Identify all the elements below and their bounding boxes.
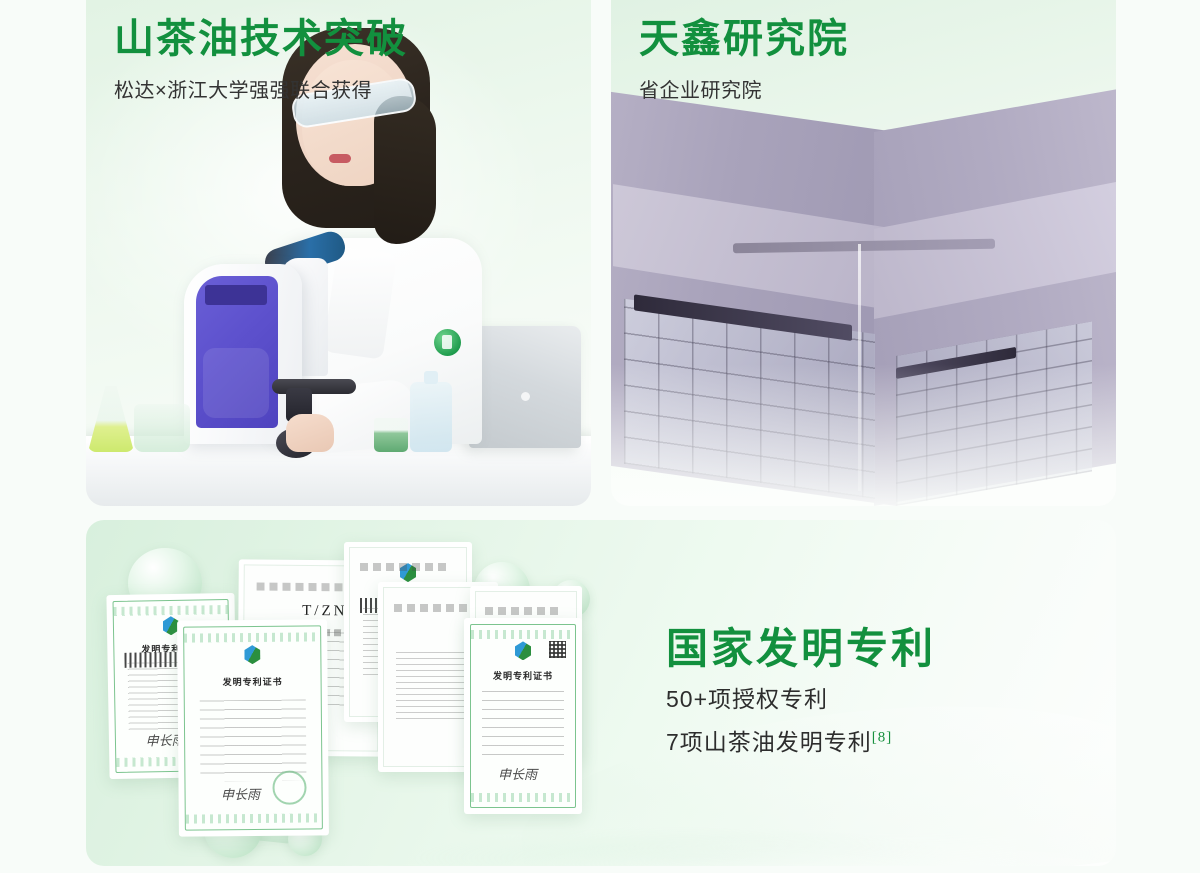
certificate-ornament bbox=[114, 605, 228, 616]
microscope-stage bbox=[272, 379, 356, 394]
certificate-title: 发明专利证书 bbox=[185, 675, 321, 689]
photo-bottom-fade bbox=[611, 364, 1116, 506]
panel-2-subtitle: 省企业研究院 bbox=[639, 74, 849, 103]
patent-text-block: 国家发明专利 50+项授权专利 7项山茶油发明专利[8] bbox=[666, 624, 936, 759]
hair-side bbox=[374, 96, 436, 244]
certificate-signature: 申长雨 bbox=[221, 784, 260, 803]
certificate-header-line bbox=[485, 607, 563, 615]
panel-1-subtitle: 松达×浙江大学强强联合获得 bbox=[114, 74, 408, 103]
panel-1-header: 山茶油技术突破 松达×浙江大学强强联合获得 bbox=[114, 14, 408, 103]
certificate-border: 发明专利证书 申长雨 bbox=[183, 625, 323, 830]
certificate-body-text bbox=[482, 691, 563, 764]
certificate-header-line bbox=[394, 604, 478, 612]
patent-heading: 国家发明专利 bbox=[666, 624, 936, 674]
certificate-thumbnail-featured: 发明专利证书 申长雨 bbox=[464, 618, 582, 814]
certificate-border: 发明专利证书 申长雨 bbox=[470, 624, 576, 808]
panel-research-institute: 天鑫研究院 省企业研究院 bbox=[611, 0, 1116, 506]
cnipa-logo-icon bbox=[244, 645, 260, 664]
certificate-seal bbox=[272, 770, 306, 804]
laptop-icon bbox=[469, 326, 581, 448]
citation-marker: [8] bbox=[872, 729, 893, 745]
microscope-panel bbox=[196, 276, 278, 428]
hand bbox=[286, 414, 334, 452]
panel-tea-oil-breakthrough: 山茶油技术突破 松达×浙江大学强强联合获得 bbox=[86, 0, 591, 506]
certificate-ornament bbox=[471, 630, 575, 639]
company-logo-badge bbox=[434, 329, 461, 356]
patent-stat-line-2-text: 7项山茶油发明专利 bbox=[666, 729, 872, 755]
certificate-ornament bbox=[471, 793, 575, 802]
certificate-signature: 申长雨 bbox=[498, 764, 537, 783]
top-panel-row: 山茶油技术突破 松达×浙江大学强强联合获得 bbox=[86, 0, 1116, 506]
certificate-body-text bbox=[200, 699, 307, 781]
certificate-title: 发明专利证书 bbox=[471, 669, 575, 682]
patent-showcase-card: 发明专利证书 申长雨 T/ZNZ bbox=[86, 520, 1116, 866]
certificate-ornament bbox=[184, 632, 320, 642]
certificate-header-line bbox=[360, 563, 450, 571]
panel-2-header: 天鑫研究院 省企业研究院 bbox=[639, 14, 849, 103]
reagent-bottle bbox=[410, 382, 452, 452]
cnipa-logo-icon bbox=[515, 641, 531, 660]
panel-1-title: 山茶油技术突破 bbox=[114, 14, 408, 64]
qr-code-icon bbox=[549, 641, 566, 658]
patent-stat-line-1: 50+项授权专利 bbox=[666, 682, 936, 717]
marketing-page: 山茶油技术突破 松达×浙江大学强强联合获得 bbox=[0, 0, 1200, 873]
panel-2-title: 天鑫研究院 bbox=[639, 14, 849, 64]
beaker-large bbox=[134, 404, 190, 452]
sample-beaker bbox=[374, 418, 408, 452]
certificate-thumbnail-featured: 发明专利证书 申长雨 bbox=[177, 619, 329, 836]
patent-stat-line-2: 7项山茶油发明专利[8] bbox=[666, 725, 936, 760]
certificate-ornament bbox=[186, 813, 322, 823]
lips bbox=[329, 154, 351, 163]
